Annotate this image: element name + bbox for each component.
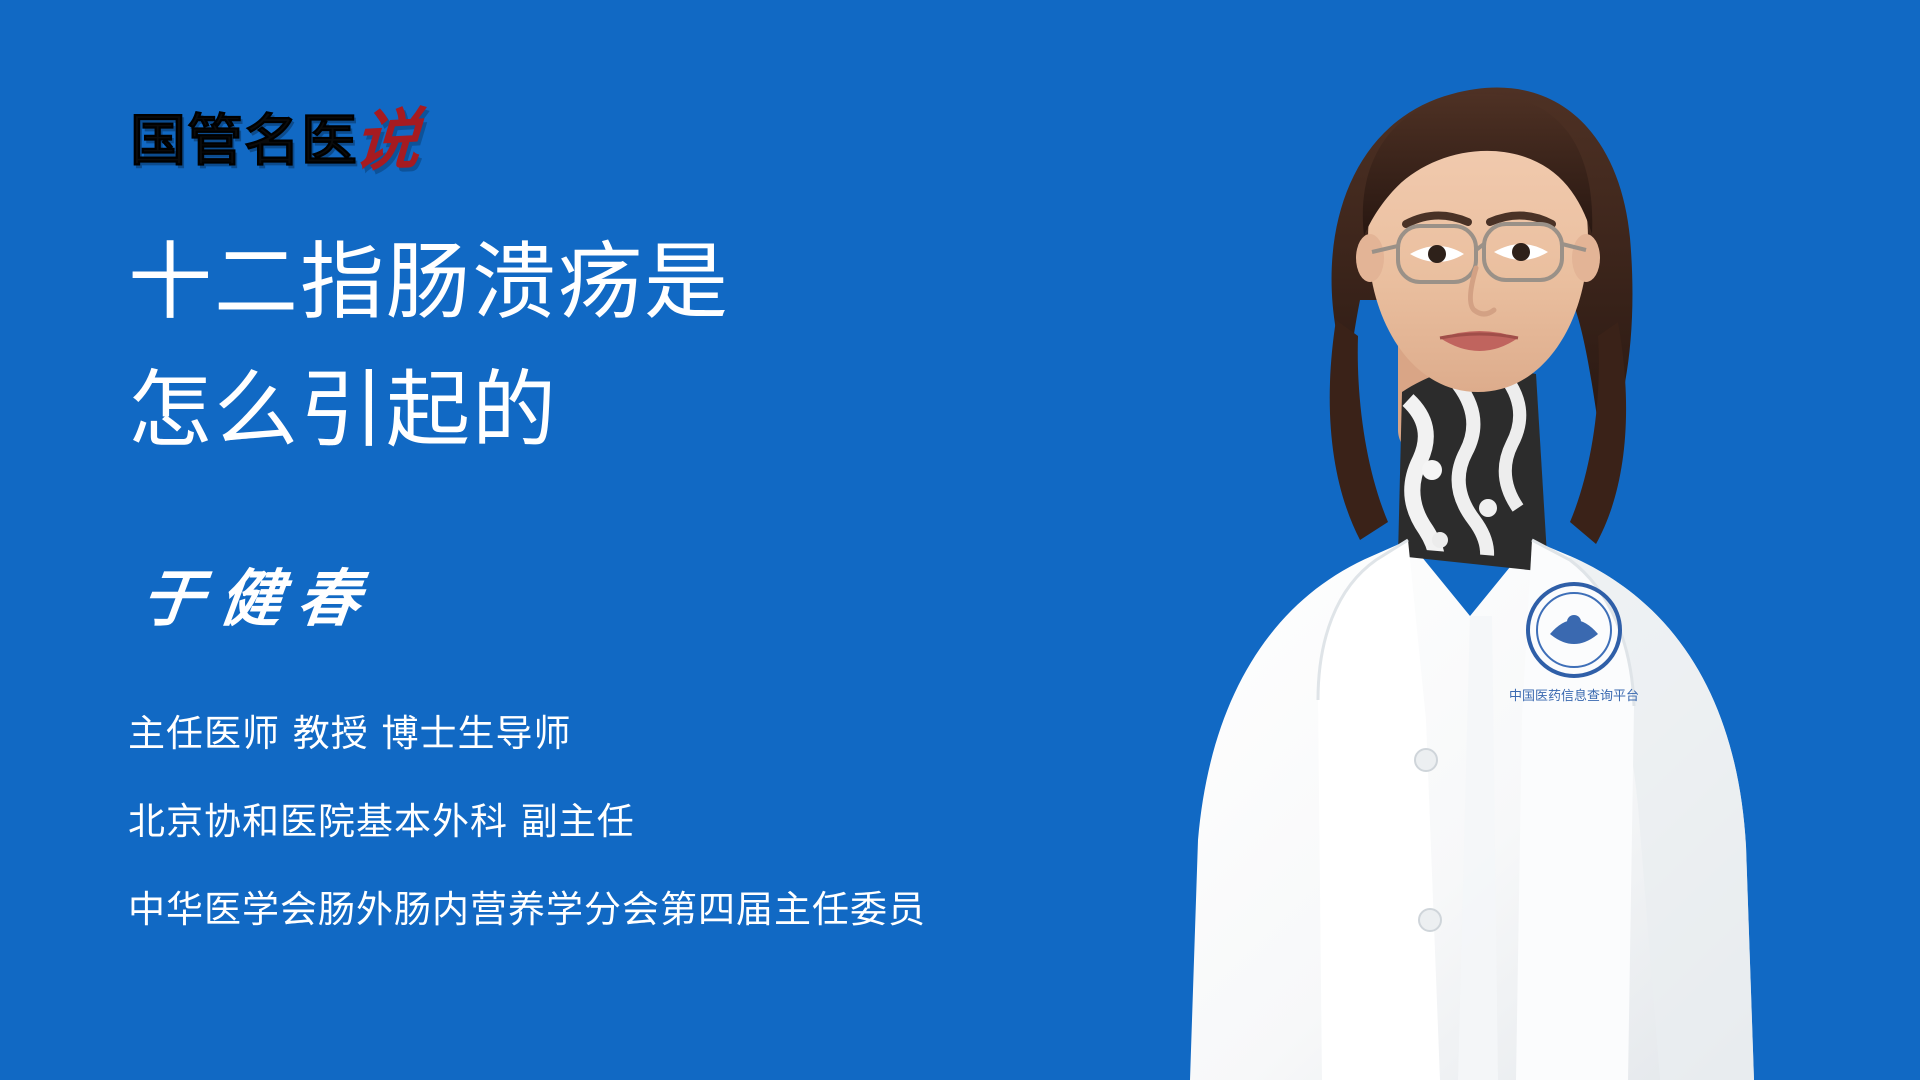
- coat-lapel-right: [1516, 540, 1634, 1080]
- scarf-pattern: [1408, 378, 1520, 598]
- credential-line: 主任医师 教授 博士生导师: [128, 690, 1128, 778]
- doctor-portrait: 中国医药信息查询平台: [1140, 0, 1920, 1080]
- hair-lock-right: [1570, 322, 1626, 544]
- coat-placket: [1458, 616, 1498, 1080]
- speaker-name: 于健春: [138, 568, 380, 630]
- speaker-credentials: 主任医师 教授 博士生导师 北京协和医院基本外科 副主任 中华医学会肠外肠内营养…: [128, 690, 1128, 954]
- program-logo-accent-text: 说: [352, 108, 422, 174]
- coat-button: [1419, 909, 1441, 931]
- coat-shadow: [1560, 556, 1754, 1080]
- hair-lock-left: [1330, 320, 1388, 540]
- face: [1368, 108, 1588, 392]
- coat-lapel-left: [1318, 540, 1440, 1080]
- mouth: [1440, 331, 1518, 351]
- hair-strand-left: [1334, 300, 1373, 520]
- neck: [1398, 318, 1512, 466]
- headline-title: 十二指肠溃疡是 怎么引起的: [128, 218, 1108, 474]
- ear-left: [1356, 234, 1384, 282]
- nose: [1470, 268, 1494, 314]
- hair-back: [1332, 88, 1633, 452]
- credential-line: 北京协和医院基本外科 副主任: [128, 778, 1128, 866]
- doctor-portrait-illustration: 中国医药信息查询平台: [1140, 0, 1920, 1080]
- credential-line: 中华医学会肠外肠内营养学分会第四届主任委员: [128, 866, 1128, 954]
- program-logo-main-text: 国管名医: [130, 114, 358, 170]
- headline-line-2: 怎么引起的: [128, 346, 1108, 474]
- svg-text:中国医药信息查询平台: 中国医药信息查询平台: [1509, 688, 1639, 704]
- lab-coat: [1190, 540, 1754, 1080]
- hair-fringe: [1363, 94, 1592, 236]
- video-cover-slide: 国管名医 说 十二指肠溃疡是 怎么引起的 于健春 主任医师 教授 博士生导师 北…: [0, 0, 1920, 1080]
- eyebrow-right: [1490, 215, 1552, 224]
- eye-left: [1410, 246, 1464, 262]
- eye-right: [1494, 244, 1548, 260]
- hospital-emblem: 中国医药信息查询平台: [1509, 584, 1639, 704]
- eyeglasses: [1372, 224, 1586, 282]
- headline-line-1: 十二指肠溃疡是: [128, 218, 1108, 346]
- coat-button: [1415, 749, 1437, 771]
- patterned-scarf: [1398, 365, 1548, 572]
- program-logo: 国管名医 说: [130, 96, 418, 170]
- eyebrow-left: [1406, 215, 1468, 224]
- ear-right: [1572, 234, 1600, 282]
